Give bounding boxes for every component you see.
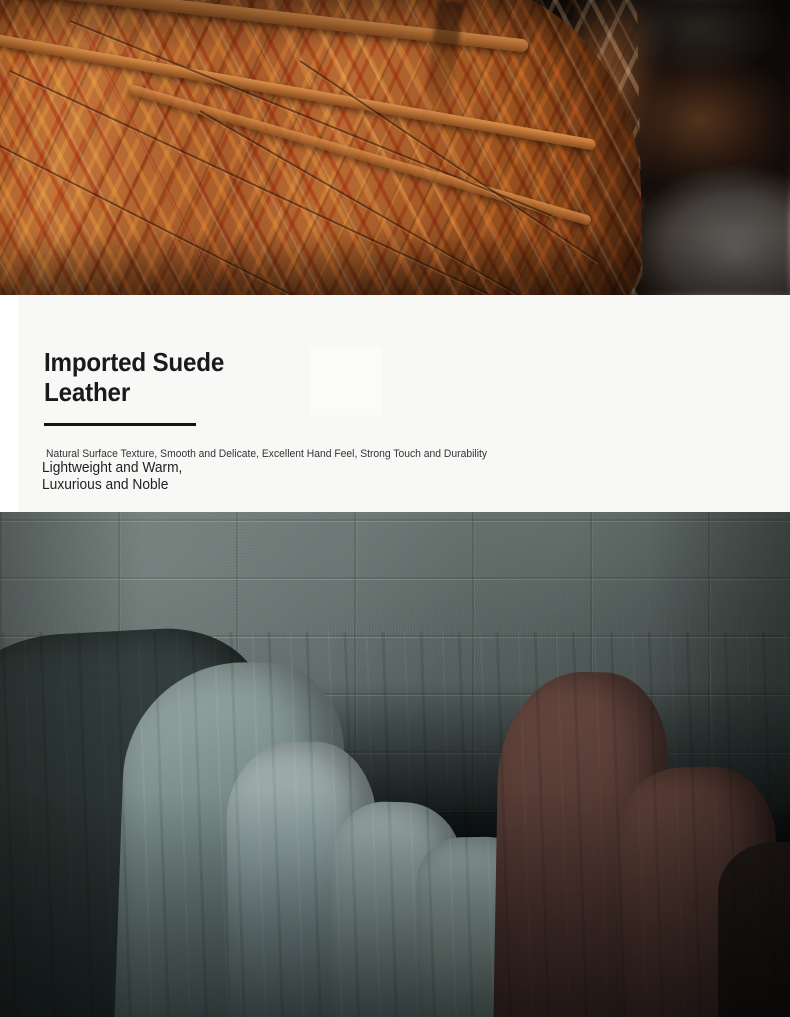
feature-caption: Natural Surface Texture, Smooth and Deli… [46,447,487,461]
leather-hides-image [0,512,790,1017]
feature-headline: Lightweight and Warm, Luxurious and Nobl… [42,460,182,494]
text-panel-surface: Imported Suede Leather Natural Surface T… [18,295,790,512]
product-detail-page: Imported Suede Leather Natural Surface T… [0,0,790,1017]
hero-banner-image [0,0,790,295]
page-title: Imported Suede Leather [44,347,224,407]
text-panel: Imported Suede Leather Natural Surface T… [0,295,790,512]
title-divider-rule [44,423,196,426]
watermark-artifact [310,347,382,415]
hide-dark-right [718,842,790,1017]
